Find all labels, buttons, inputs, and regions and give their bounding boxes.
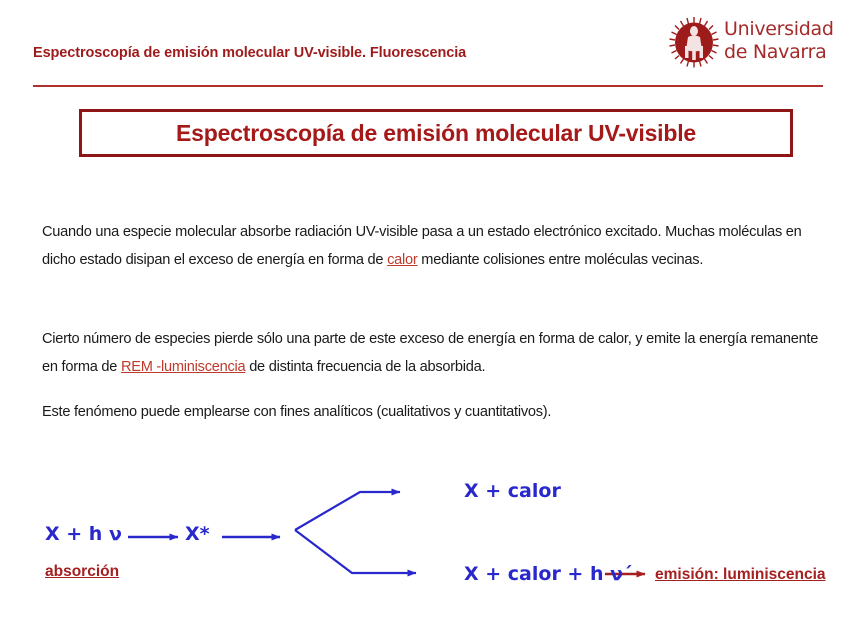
paragraph-1-part-2: mediante colisiones entre moléculas veci…: [418, 252, 704, 268]
diagram-label-branch-top: X + calor: [464, 480, 561, 502]
reaction-scheme-diagram: X + h ν X* absorción X + calor X + calor…: [0, 460, 848, 610]
university-logo: Universidad de Navarra: [668, 16, 833, 70]
reaction-scheme-arrows: [0, 460, 848, 610]
diagram-label-excited-state: X*: [185, 523, 210, 545]
logo-wordmark-line1: Universidad: [724, 18, 834, 41]
slide-title-text: Espectroscopía de emisión molecular UV-v…: [176, 120, 696, 147]
logo-wordmark-line2: de Navarra: [724, 41, 834, 64]
paragraph-1-highlight-calor: calor: [387, 252, 417, 268]
body-paragraph-1: Cuando una especie molecular absorbe rad…: [42, 218, 832, 274]
header-divider-rule: [33, 85, 823, 87]
paragraph-2-highlight-rem-luminiscencia: REM -luminiscencia: [121, 359, 245, 375]
universidad-de-navarra-seal-icon: [668, 16, 720, 68]
body-paragraph-2: Cierto número de especies pierde sólo un…: [42, 325, 832, 381]
diagram-label-emision-luminiscencia: emisión: luminiscencia: [655, 566, 826, 584]
paragraph-2-part-2: de distinta frecuencia de la absorbida.: [245, 359, 485, 375]
branch-upper-arrow: [295, 492, 400, 530]
diagram-label-reactant: X + h ν: [45, 523, 122, 545]
page-header-title: Espectroscopía de emisión molecular UV-v…: [33, 45, 466, 61]
branch-lower-arrow: [295, 530, 416, 573]
slide-title-box: Espectroscopía de emisión molecular UV-v…: [79, 109, 793, 157]
diagram-label-absorcion: absorción: [45, 563, 119, 581]
body-paragraph-3: Este fenómeno puede emplearse con fines …: [42, 398, 832, 426]
logo-wordmark: Universidad de Navarra: [724, 18, 834, 64]
diagram-label-branch-bottom: X + calor + h ν´: [464, 563, 633, 585]
